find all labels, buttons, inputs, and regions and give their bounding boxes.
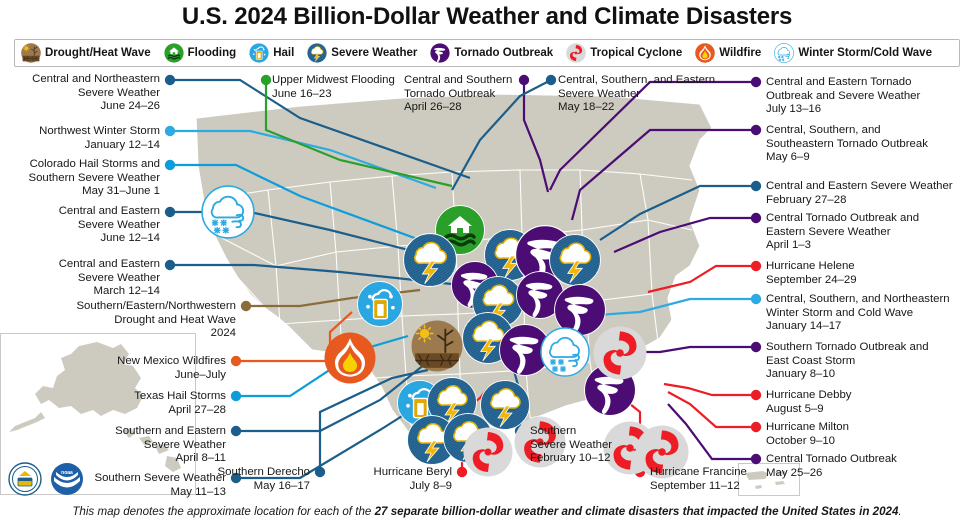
event-name: Central, Southern, and Northeastern Wint… <box>766 293 970 320</box>
department-of-commerce-seal <box>8 462 42 496</box>
event-date: June 24–26 <box>0 100 160 114</box>
event-name: Southern Tornado Outbreak and East Coast… <box>766 341 970 368</box>
footnote-pre: This map denotes the approximate locatio… <box>72 505 374 518</box>
noaa-logo-icon: noaa <box>50 462 84 496</box>
labels-layer: Central and Northeastern Severe WeatherJ… <box>0 0 974 529</box>
svg-text:noaa: noaa <box>61 470 73 476</box>
event-date: August 5–9 <box>766 403 970 417</box>
event-date: May 6–9 <box>766 151 970 165</box>
event-label: Central Tornado Outbreak and Eastern Sev… <box>766 212 970 253</box>
event-date: July 13–16 <box>766 103 970 117</box>
event-date: February 10–12 <box>530 452 970 466</box>
event-name: Hurricane Debby <box>766 389 970 403</box>
event-label: Southern/Eastern/Northwestern Drought an… <box>0 300 236 341</box>
event-name: Central and Eastern Severe Weather <box>0 258 160 285</box>
event-name: Central and Eastern Tornado Outbreak and… <box>766 76 970 103</box>
event-name: Central and Eastern Severe Weather <box>0 205 160 232</box>
event-label: Southern Tornado Outbreak and East Coast… <box>766 341 970 382</box>
event-label: Central, Southern, and Southeastern Torn… <box>766 124 970 165</box>
event-date: January 8–10 <box>766 368 970 382</box>
event-date: September 11–12 <box>650 480 970 494</box>
event-date: 2024 <box>0 327 236 341</box>
commerce-seal-icon <box>8 462 42 496</box>
event-date: June 12–14 <box>0 232 160 246</box>
event-label: Central and Eastern Severe WeatherJune 1… <box>0 205 160 246</box>
event-label: Southern Severe WeatherFebruary 10–12 <box>530 425 970 466</box>
footnote-bold: 27 separate billion-dollar weather and c… <box>375 505 899 518</box>
event-label: Northwest Winter StormJanuary 12–14 <box>0 125 160 152</box>
event-label: Hurricane DebbyAugust 5–9 <box>766 389 970 416</box>
event-label: Southern and Eastern Severe WeatherApril… <box>0 425 226 466</box>
event-date: May 31–June 1 <box>0 185 160 199</box>
event-name: Colorado Hail Storms and Southern Severe… <box>0 158 160 185</box>
event-name: Central Tornado Outbreak and Eastern Sev… <box>766 212 970 239</box>
event-name: Central, Southern, and Southeastern Torn… <box>766 124 970 151</box>
noaa-logo: noaa <box>50 462 84 496</box>
infographic-root: U.S. 2024 Billion-Dollar Weather and Cli… <box>0 0 974 529</box>
event-date: September 24–29 <box>766 274 970 288</box>
event-name: Central and Northeastern Severe Weather <box>0 73 160 100</box>
event-name: Southern/Eastern/Northwestern Drought an… <box>0 300 236 327</box>
event-name: Southern Severe Weather <box>530 425 970 452</box>
event-date: April 1–3 <box>766 239 970 253</box>
event-label: Texas Hail StormsApril 27–28 <box>0 390 226 417</box>
event-name: New Mexico Wildfires <box>0 355 226 369</box>
event-label: Colorado Hail Storms and Southern Severe… <box>0 158 160 199</box>
event-label: Hurricane HeleneSeptember 24–29 <box>766 260 970 287</box>
event-name: Central and Eastern Severe Weather <box>766 180 970 194</box>
event-date: January 12–14 <box>0 139 160 153</box>
event-name: Northwest Winter Storm <box>0 125 160 139</box>
event-name: Southern and Eastern Severe Weather <box>0 425 226 452</box>
event-label: Central, Southern, and Northeastern Wint… <box>766 293 970 334</box>
event-date: February 27–28 <box>766 194 970 208</box>
event-name: Hurricane Helene <box>766 260 970 274</box>
event-date: June–July <box>0 369 226 383</box>
event-name: Hurricane Francine <box>650 466 970 480</box>
event-label: Central and Eastern Severe WeatherMarch … <box>0 258 160 299</box>
footnote-post: . <box>898 505 901 518</box>
event-label: Hurricane FrancineSeptember 11–12 <box>650 466 970 493</box>
event-label: New Mexico WildfiresJune–July <box>0 355 226 382</box>
event-date: January 14–17 <box>766 320 970 334</box>
event-label: Central and Northeastern Severe WeatherJ… <box>0 73 160 114</box>
event-label: Central and Eastern Severe WeatherFebrua… <box>766 180 970 207</box>
event-date: April 27–28 <box>0 404 226 418</box>
event-name: Texas Hail Storms <box>0 390 226 404</box>
event-label: Central and Eastern Tornado Outbreak and… <box>766 76 970 117</box>
event-date: March 12–14 <box>0 285 160 299</box>
footnote: This map denotes the approximate locatio… <box>0 505 974 518</box>
